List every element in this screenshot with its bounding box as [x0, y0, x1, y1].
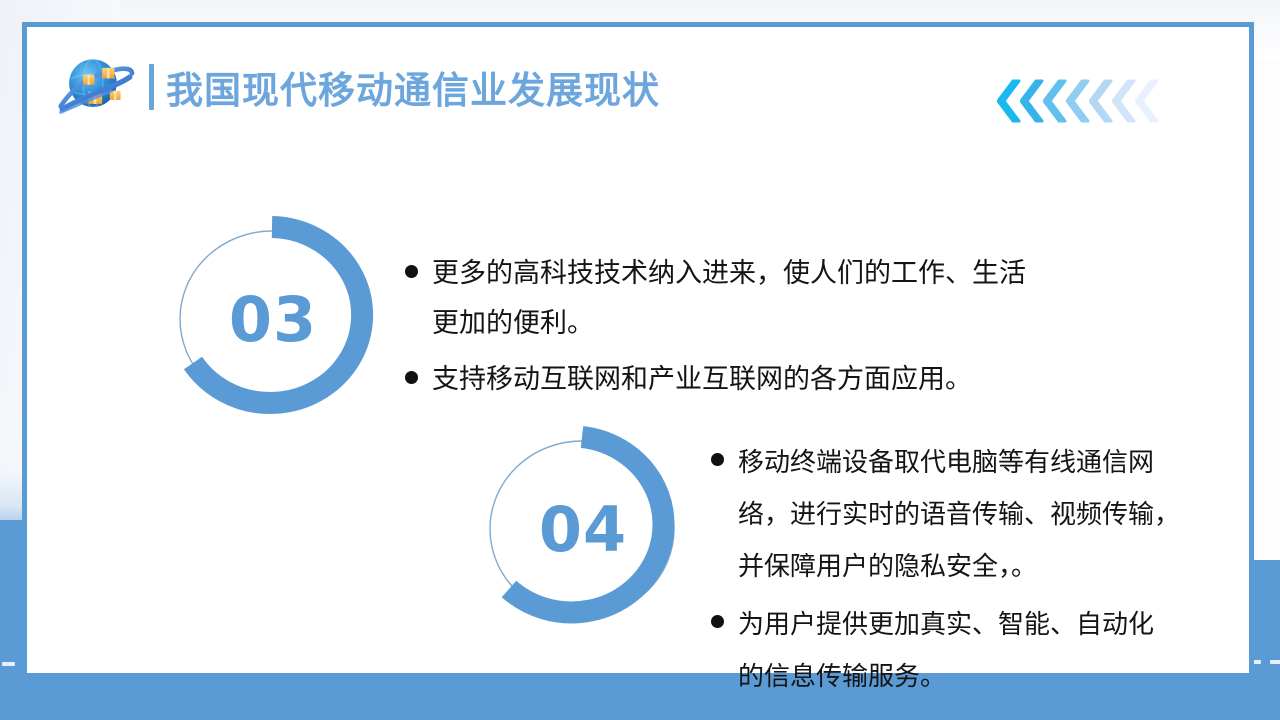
bullet-text: 支持移动互联网和产业互联网的各方面应用。 — [432, 355, 972, 405]
chevron-left-icon — [1135, 79, 1161, 123]
bullet-line: 的信息传输服务。 — [738, 662, 946, 692]
section-number: 03 — [161, 213, 383, 425]
globe-boxes-icon — [57, 54, 135, 120]
slide-canvas: 我国现代移动通信业发展现状 03 — [0, 0, 1280, 720]
bullet-line: 更加的便利。 — [432, 308, 594, 339]
section-ring-04: 04 — [471, 423, 693, 635]
section-number: 04 — [471, 423, 693, 635]
section-ring-03: 03 — [161, 213, 383, 425]
bullet-text: 为用户提供更加真实、智能、自动化 的信息传输服务。 — [738, 599, 1154, 703]
bullet-line: 为用户提供更加真实、智能、自动化 — [738, 610, 1154, 640]
bullet-item: 更多的高科技技术纳入进来，使人们的工作、生活 更加的便利。 — [405, 249, 1195, 349]
section-bullets-03: 更多的高科技技术纳入进来，使人们的工作、生活 更加的便利。 支持移动互联网和产业… — [405, 249, 1195, 411]
slide-header: 我国现代移动通信业发展现状 — [57, 49, 660, 125]
bullet-dot-icon — [711, 615, 724, 628]
bullet-text: 更多的高科技技术纳入进来，使人们的工作、生活 更加的便利。 — [432, 249, 1026, 349]
page-title: 我国现代移动通信业发展现状 — [166, 60, 660, 114]
dash-mark — [1270, 660, 1280, 664]
bullet-item: 移动终端设备取代电脑等有线通信网 络，进行实时的语音传输、视频传输， 并保障用户… — [711, 437, 1271, 593]
bullet-dot-icon — [711, 453, 724, 466]
bullet-item: 为用户提供更加真实、智能、自动化 的信息传输服务。 — [711, 599, 1271, 703]
bullet-line: 支持移动互联网和产业互联网的各方面应用。 — [432, 364, 972, 395]
bullet-dot-icon — [405, 371, 418, 384]
bullet-item: 支持移动互联网和产业互联网的各方面应用。 — [405, 355, 1195, 405]
bullet-line: 移动终端设备取代电脑等有线通信网 — [738, 448, 1154, 478]
slide-card-inner: 我国现代移动通信业发展现状 03 — [27, 27, 1249, 673]
bullet-dot-icon — [405, 265, 418, 278]
slide-card: 我国现代移动通信业发展现状 03 — [22, 22, 1254, 678]
bullet-text: 移动终端设备取代电脑等有线通信网 络，进行实时的语音传输、视频传输， 并保障用户… — [738, 437, 1180, 593]
header-divider-bar — [149, 64, 154, 110]
bullet-line: 更多的高科技技术纳入进来，使人们的工作、生活 — [432, 258, 1026, 289]
chevron-decoration — [1000, 79, 1161, 123]
dash-mark — [2, 662, 15, 666]
section-bullets-04: 移动终端设备取代电脑等有线通信网 络，进行实时的语音传输、视频传输， 并保障用户… — [711, 437, 1271, 709]
bullet-line: 并保障用户的隐私安全，。 — [738, 552, 1037, 582]
bullet-line: 络，进行实时的语音传输、视频传输， — [738, 500, 1180, 530]
